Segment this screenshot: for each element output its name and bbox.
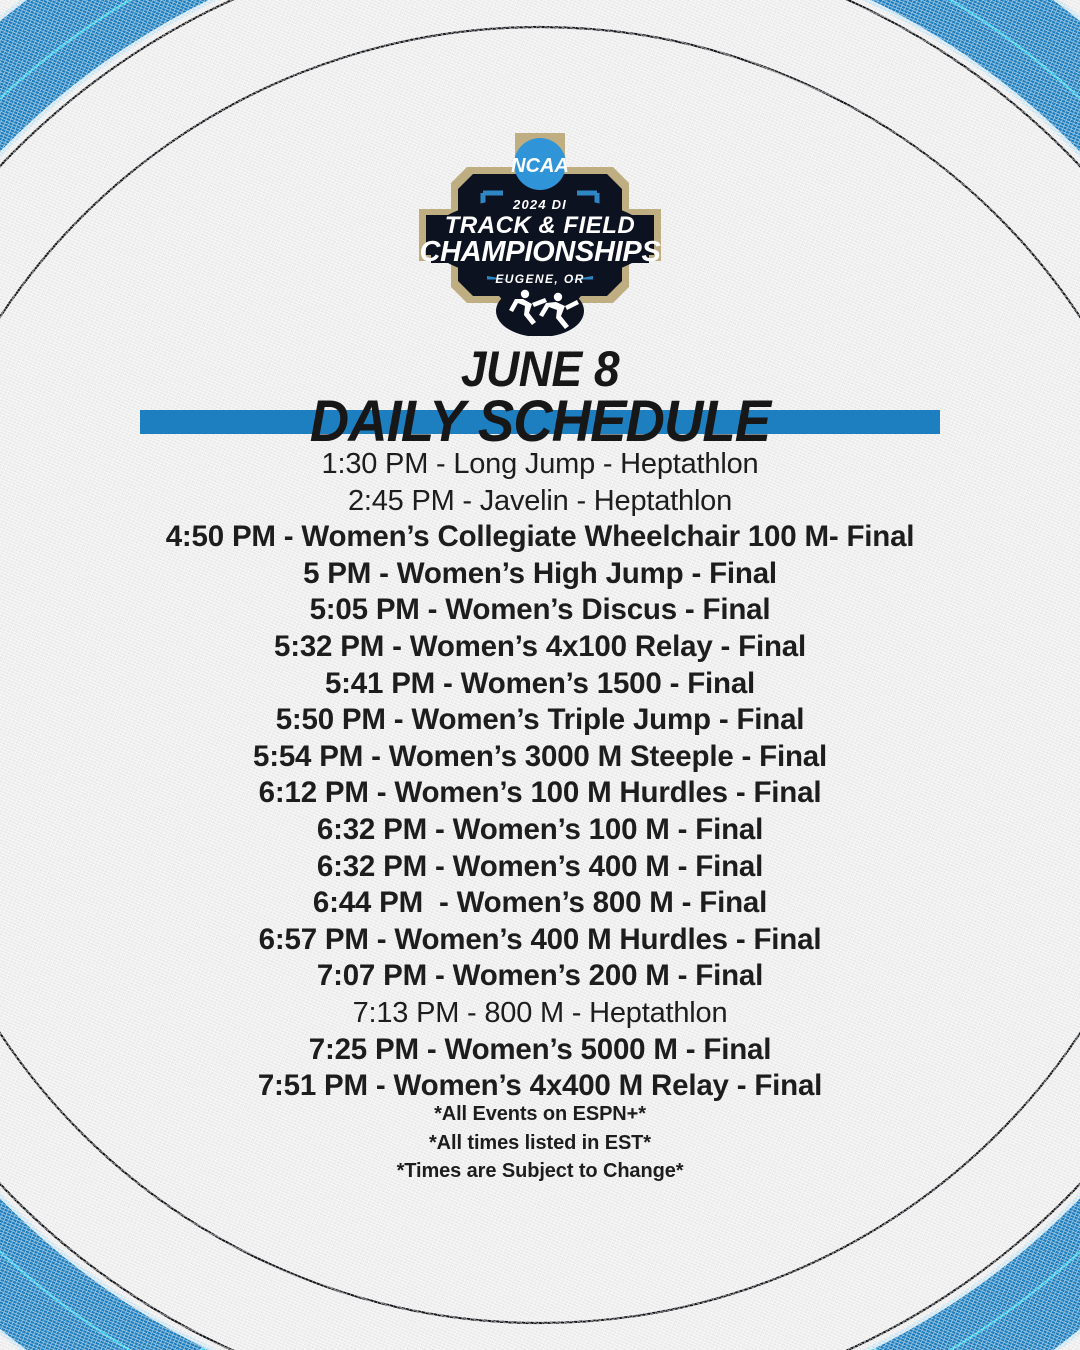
schedule-event-row: 5:50 PM - Women’s Triple Jump - Final [0, 702, 1080, 739]
logo-artwork: NCAA 2024 DI TRACK & FIELD CHAMPIONSHIPS… [415, 131, 665, 336]
logo-sport-line2: CHAMPIONSHIPS [419, 236, 661, 268]
schedule-event-row: 7:07 PM - Women’s 200 M - Final [0, 958, 1080, 995]
runner-emblem-background [496, 285, 584, 336]
page-title: DAILY SCHEDULE [32, 394, 1047, 450]
schedule-event-row: 5:05 PM - Women’s Discus - Final [0, 592, 1080, 629]
schedule-date: JUNE 8 [43, 344, 1037, 394]
schedule-event-row: 2:45 PM - Javelin - Heptathlon [0, 483, 1080, 520]
schedule-event-row: 5 PM - Women’s High Jump - Final [0, 556, 1080, 593]
footnote-line: *All Events on ESPN+* [0, 1100, 1080, 1129]
logo-year-text: 2024 DI [512, 197, 567, 212]
schedule-event-row: 4:50 PM - Women’s Collegiate Wheelchair … [0, 519, 1080, 556]
schedule-event-row: 6:32 PM - Women’s 400 M - Final [0, 849, 1080, 886]
schedule-event-row: 6:12 PM - Women’s 100 M Hurdles - Final [0, 775, 1080, 812]
schedule-event-row: 7:13 PM - 800 M - Heptathlon [0, 995, 1080, 1032]
header-block: JUNE 8 DAILY SCHEDULE [0, 344, 1080, 450]
schedule-event-row: 6:44 PM - Women’s 800 M - Final [0, 885, 1080, 922]
ncaa-mark-text: NCAA [511, 155, 569, 177]
logo-location-text: EUGENE, OR [495, 272, 584, 286]
schedule-event-row: 6:57 PM - Women’s 400 M Hurdles - Final [0, 922, 1080, 959]
footnote-line: *All times listed in EST* [0, 1129, 1080, 1158]
schedule-event-row: 5:32 PM - Women’s 4x100 Relay - Final [0, 629, 1080, 666]
schedule-list: 1:30 PM - Long Jump - Heptathlon2:45 PM … [0, 446, 1080, 1105]
logo-sport-line1: TRACK & FIELD [445, 212, 635, 239]
schedule-event-row: 7:25 PM - Women’s 5000 M - Final [0, 1032, 1080, 1069]
schedule-event-row: 5:54 PM - Women’s 3000 M Steeple - Final [0, 739, 1080, 776]
schedule-event-row: 6:32 PM - Women’s 100 M - Final [0, 812, 1080, 849]
footnotes-block: *All Events on ESPN+**All times listed i… [0, 1100, 1080, 1186]
ncaa-championships-logo: NCAA 2024 DI TRACK & FIELD CHAMPIONSHIPS… [415, 131, 665, 336]
footnote-line: *Times are Subject to Change* [0, 1157, 1080, 1186]
schedule-event-row: 5:41 PM - Women’s 1500 - Final [0, 666, 1080, 703]
